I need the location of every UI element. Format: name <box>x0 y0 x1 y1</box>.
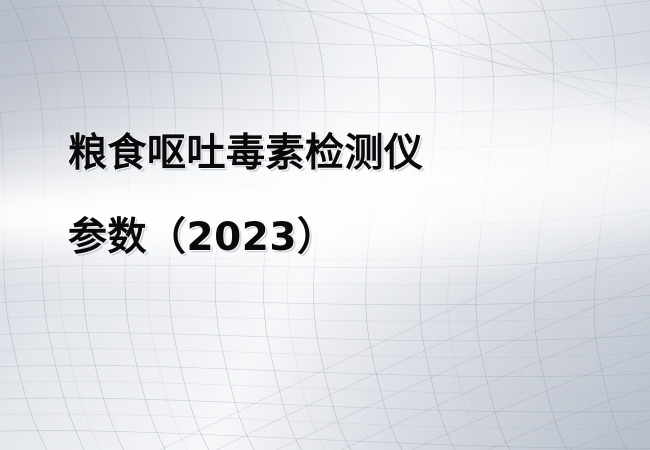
title-line-secondary: 参数（2023） <box>68 196 588 280</box>
title-banner: 粮食呕吐毒素检测仪 参数（2023） <box>0 0 650 450</box>
title-line-primary: 粮食呕吐毒素检测仪 <box>68 112 588 196</box>
page-title: 粮食呕吐毒素检测仪 参数（2023） <box>68 112 588 280</box>
